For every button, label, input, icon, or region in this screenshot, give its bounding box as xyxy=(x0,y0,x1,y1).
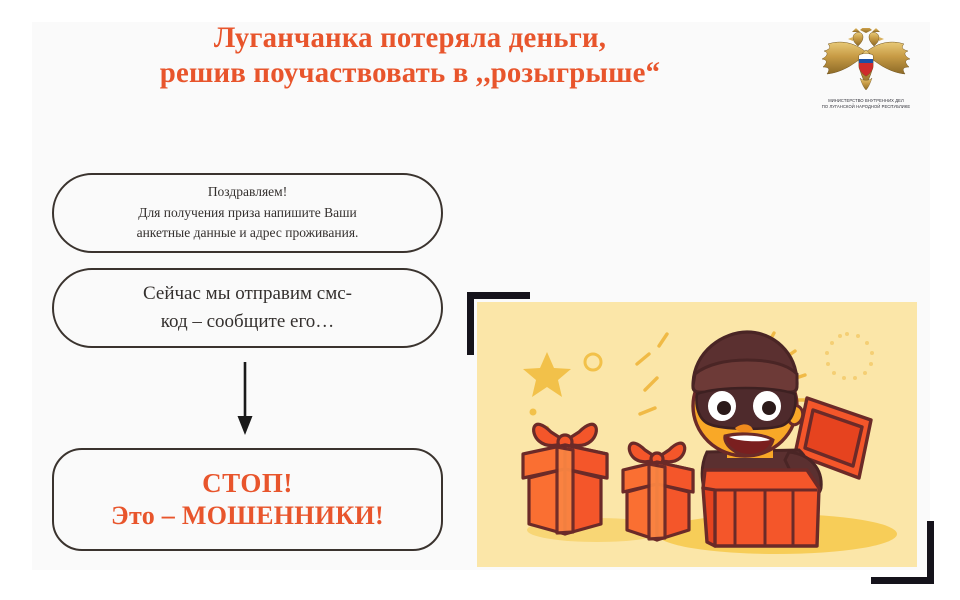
page-title-line-1: Луганчанка потеряла деньги, xyxy=(45,20,775,55)
sms-line-2: код – сообщите его… xyxy=(143,308,352,336)
illustration-artwork xyxy=(477,302,917,567)
page-title-line-2: решив поучаствовать в ,,розыгрыше“ xyxy=(45,55,775,90)
sms-line-1: Сейчас мы отправим смс- xyxy=(143,280,352,308)
scam-message-sms-code-text: Сейчас мы отправим смс- код – сообщите е… xyxy=(143,280,352,335)
warning-fraudsters-label: Это – МОШЕННИКИ! xyxy=(111,501,384,532)
emblem-caption: МИНИСТЕРСТВО ВНУТРЕННИХ ДЕЛ ПО ЛУГАНСКОЙ… xyxy=(797,98,935,110)
scam-message-congrats: Поздравляем! Для получения приза напишит… xyxy=(52,173,443,253)
warning-stop-box: СТОП! Это – МОШЕННИКИ! xyxy=(52,448,443,551)
ministry-emblem: МИНИСТЕРСТВО ВНУТРЕННИХ ДЕЛ ПО ЛУГАНСКОЙ… xyxy=(812,28,920,120)
thief-in-gift-box-illustration xyxy=(477,302,917,567)
russian-double-headed-eagle-emblem xyxy=(812,28,920,92)
down-arrow-icon xyxy=(222,362,268,436)
congrats-line-1: Поздравляем! xyxy=(137,182,359,203)
scam-message-sms-code: Сейчас мы отправим смс- код – сообщите е… xyxy=(52,268,443,348)
congrats-line-2: Для получения приза напишите Ваши xyxy=(137,203,359,224)
page-title: Луганчанка потеряла деньги, решив поучас… xyxy=(45,20,775,91)
congrats-line-3: анкетные данные и адрес проживания. xyxy=(137,223,359,244)
warning-stop-label: СТОП! xyxy=(202,468,293,498)
scam-message-congrats-text: Поздравляем! Для получения приза напишит… xyxy=(137,182,359,245)
corner-bracket-top-left xyxy=(467,292,530,355)
gift-box-middle xyxy=(623,443,693,540)
corner-bracket-bottom-right xyxy=(871,521,934,584)
gift-box-open-body xyxy=(703,470,819,546)
